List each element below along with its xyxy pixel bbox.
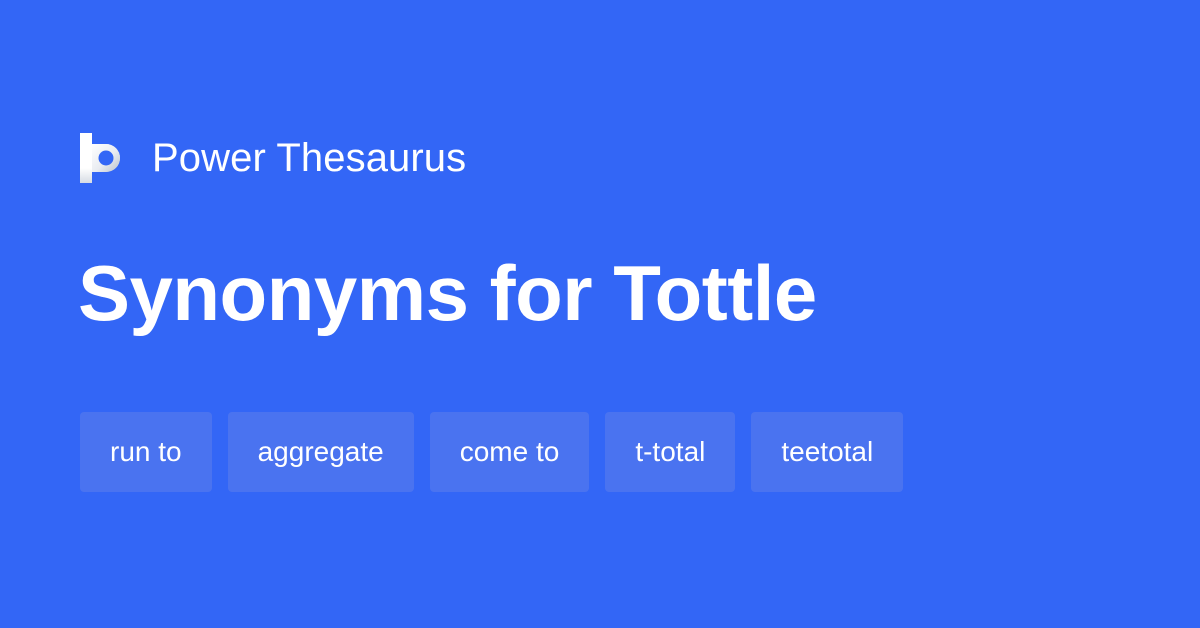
synonym-chip[interactable]: teetotal [751, 412, 903, 492]
power-thesaurus-b-logo-icon [80, 133, 124, 183]
brand-header[interactable]: Power Thesaurus [80, 128, 466, 188]
synonym-chip[interactable]: aggregate [228, 412, 414, 492]
synonym-chip[interactable]: run to [80, 412, 212, 492]
synonym-chip[interactable]: t-total [605, 412, 735, 492]
synonym-chip[interactable]: come to [430, 412, 590, 492]
synonym-chip-list: run to aggregate come to t-total teetota… [80, 412, 903, 492]
open-graph-card: Power Thesaurus Synonyms for Tottle run … [0, 0, 1200, 628]
page-title: Synonyms for Tottle [78, 250, 817, 336]
brand-name: Power Thesaurus [152, 138, 466, 178]
